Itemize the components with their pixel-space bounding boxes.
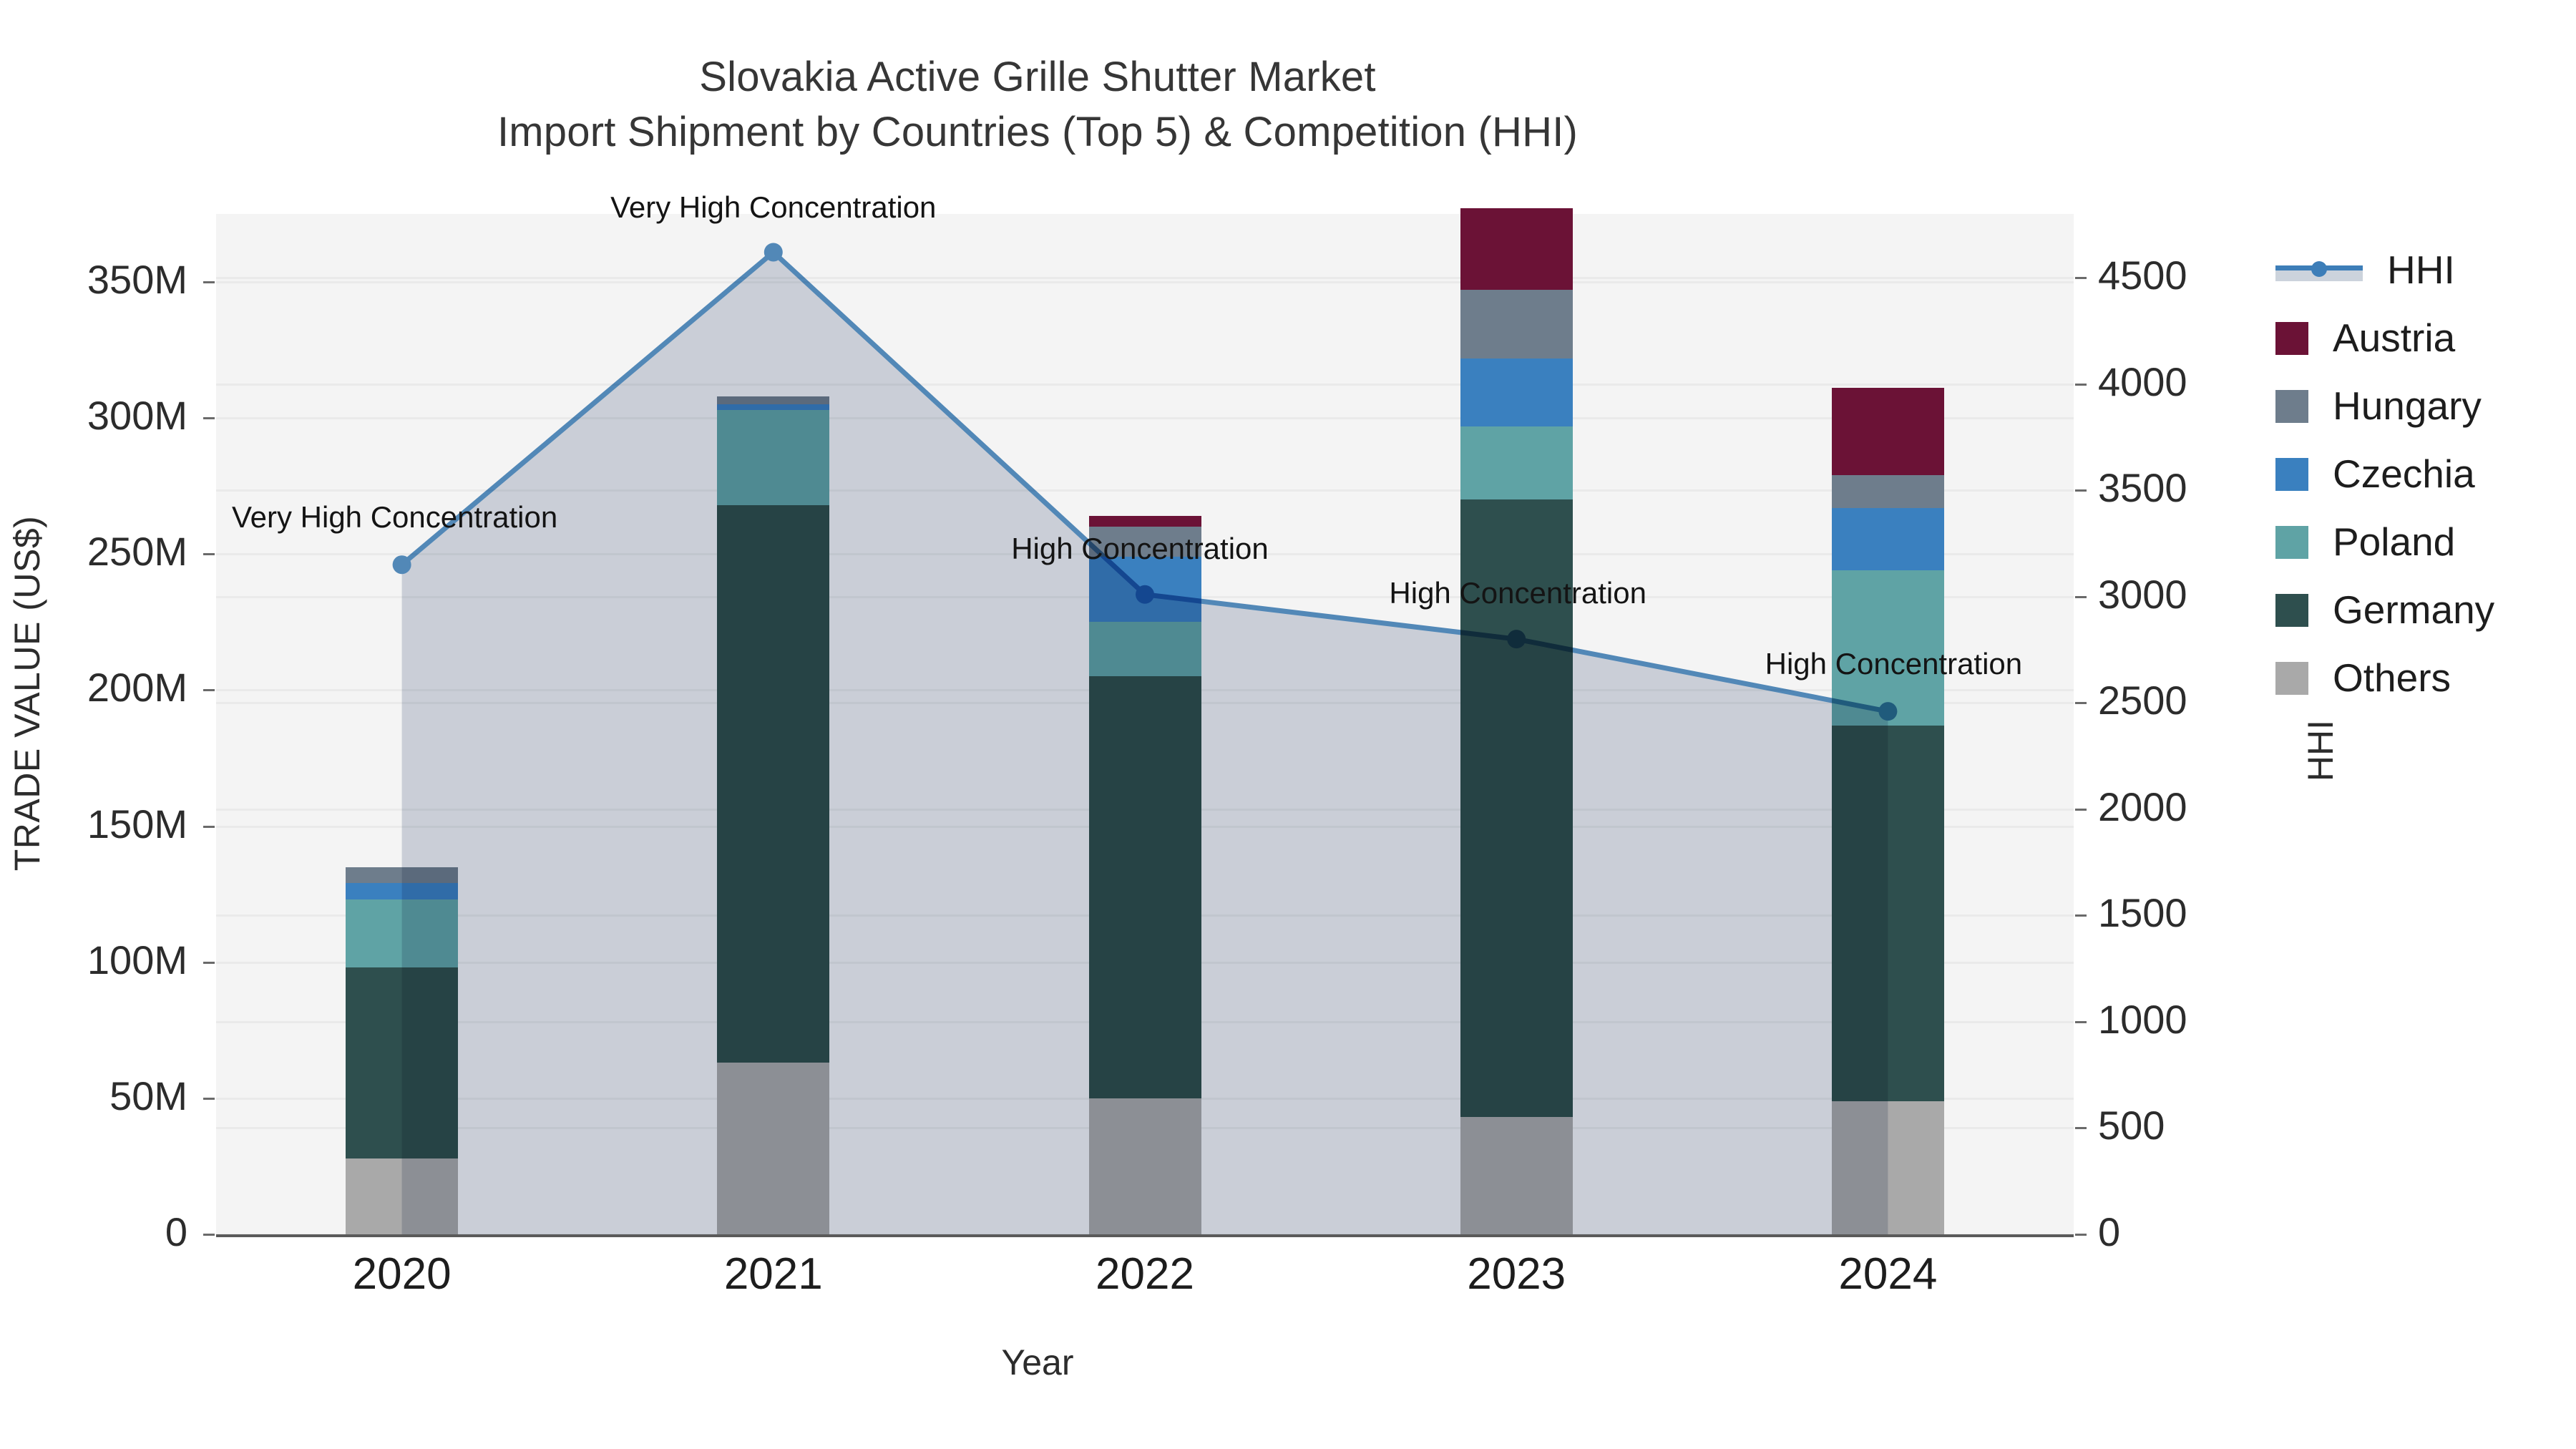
x-axis-tick-label: 2024 xyxy=(1745,1249,2031,1299)
y-axis-right-tick-mark xyxy=(2075,1234,2087,1236)
hhi-marker-2022[interactable] xyxy=(1136,585,1154,604)
y-axis-right-tick-mark xyxy=(2075,1127,2087,1129)
legend-swatch-icon xyxy=(2275,322,2308,355)
annotation-2022: High Concentration xyxy=(854,532,1426,566)
legend: HHIAustriaHungaryCzechiaPolandGermanyOth… xyxy=(2275,236,2576,712)
x-axis-line xyxy=(216,1234,2074,1237)
legend-item-others[interactable]: Others xyxy=(2275,644,2576,712)
y-axis-left-tick-label: 0 xyxy=(0,1209,187,1255)
hhi-marker-2024[interactable] xyxy=(1878,702,1897,721)
x-axis-tick-label: 2023 xyxy=(1373,1249,1659,1299)
legend-line-key-icon xyxy=(2275,254,2363,287)
y-axis-right-tick-mark xyxy=(2075,1021,2087,1023)
x-axis-tick-label: 2022 xyxy=(1002,1249,1288,1299)
y-axis-right-tick-label: 500 xyxy=(2098,1102,2313,1148)
x-axis-tick-label: 2021 xyxy=(630,1249,917,1299)
y-axis-left-tick-mark xyxy=(203,962,215,964)
legend-item-label: Others xyxy=(2333,658,2451,698)
legend-item-label: Austria xyxy=(2333,318,2455,358)
legend-swatch-icon xyxy=(2275,390,2308,423)
legend-swatch-icon xyxy=(2275,458,2308,491)
legend-item-label: HHI xyxy=(2387,250,2455,290)
y-axis-right-tick-mark xyxy=(2075,809,2087,811)
annotation-2020: Very High Concentration xyxy=(109,500,681,535)
chart-title: Slovakia Active Grille Shutter Market Im… xyxy=(0,50,2075,160)
y-axis-left-tick-label: 300M xyxy=(0,392,187,439)
y-axis-right-tick-mark xyxy=(2075,914,2087,917)
chart-figure: Slovakia Active Grille Shutter Market Im… xyxy=(0,0,2576,1449)
y-axis-right-tick-label: 2000 xyxy=(2098,784,2313,830)
y-axis-left-tick-mark xyxy=(203,281,215,283)
legend-item-label: Hungary xyxy=(2333,386,2482,426)
legend-item-label: Czechia xyxy=(2333,454,2475,494)
y-axis-left-tick-mark xyxy=(203,1098,215,1100)
annotation-2021: Very High Concentration xyxy=(487,190,1060,225)
chart-title-line-1: Slovakia Active Grille Shutter Market xyxy=(0,50,2075,105)
y-axis-left-tick-mark xyxy=(203,553,215,555)
legend-item-czechia[interactable]: Czechia xyxy=(2275,440,2576,508)
y-axis-left-tick-mark xyxy=(203,689,215,691)
legend-item-hhi[interactable]: HHI xyxy=(2275,236,2576,304)
y-axis-right-tick-label: 0 xyxy=(2098,1209,2313,1255)
y-axis-left-tick-label: 350M xyxy=(0,256,187,303)
hhi-line-series xyxy=(216,214,2074,1234)
legend-item-poland[interactable]: Poland xyxy=(2275,508,2576,576)
y-axis-left-title: TRADE VALUE (US$) xyxy=(6,479,48,908)
hhi-marker-2020[interactable] xyxy=(393,555,411,574)
y-axis-right-tick-mark xyxy=(2075,596,2087,598)
y-axis-right-tick-mark xyxy=(2075,384,2087,386)
legend-item-label: Poland xyxy=(2333,522,2455,562)
legend-item-label: Germany xyxy=(2333,590,2494,630)
y-axis-right-tick-mark xyxy=(2075,489,2087,492)
y-axis-right-tick-mark xyxy=(2075,702,2087,704)
x-axis-tick-label: 2020 xyxy=(259,1249,545,1299)
hhi-area-fill xyxy=(402,252,1888,1234)
annotation-2023: High Concentration xyxy=(1231,576,1804,610)
hhi-marker-2023[interactable] xyxy=(1507,630,1526,648)
legend-swatch-icon xyxy=(2275,594,2308,627)
chart-title-line-2: Import Shipment by Countries (Top 5) & C… xyxy=(0,105,2075,160)
y-axis-right-tick-label: 1000 xyxy=(2098,996,2313,1043)
hhi-marker-2021[interactable] xyxy=(764,243,783,261)
x-axis-title: Year xyxy=(0,1342,2075,1383)
legend-swatch-icon xyxy=(2275,526,2308,559)
y-axis-left-tick-label: 100M xyxy=(0,937,187,983)
y-axis-right-tick-label: 1500 xyxy=(2098,889,2313,936)
annotation-2024: High Concentration xyxy=(1607,647,2180,681)
y-axis-right-tick-mark xyxy=(2075,277,2087,279)
y-axis-left-tick-mark xyxy=(203,826,215,828)
legend-swatch-icon xyxy=(2275,662,2308,695)
legend-item-germany[interactable]: Germany xyxy=(2275,576,2576,644)
y-axis-left-tick-mark xyxy=(203,1234,215,1236)
legend-item-austria[interactable]: Austria xyxy=(2275,304,2576,372)
legend-item-hungary[interactable]: Hungary xyxy=(2275,372,2576,440)
y-axis-left-tick-label: 50M xyxy=(0,1073,187,1119)
y-axis-left-tick-mark xyxy=(203,417,215,419)
